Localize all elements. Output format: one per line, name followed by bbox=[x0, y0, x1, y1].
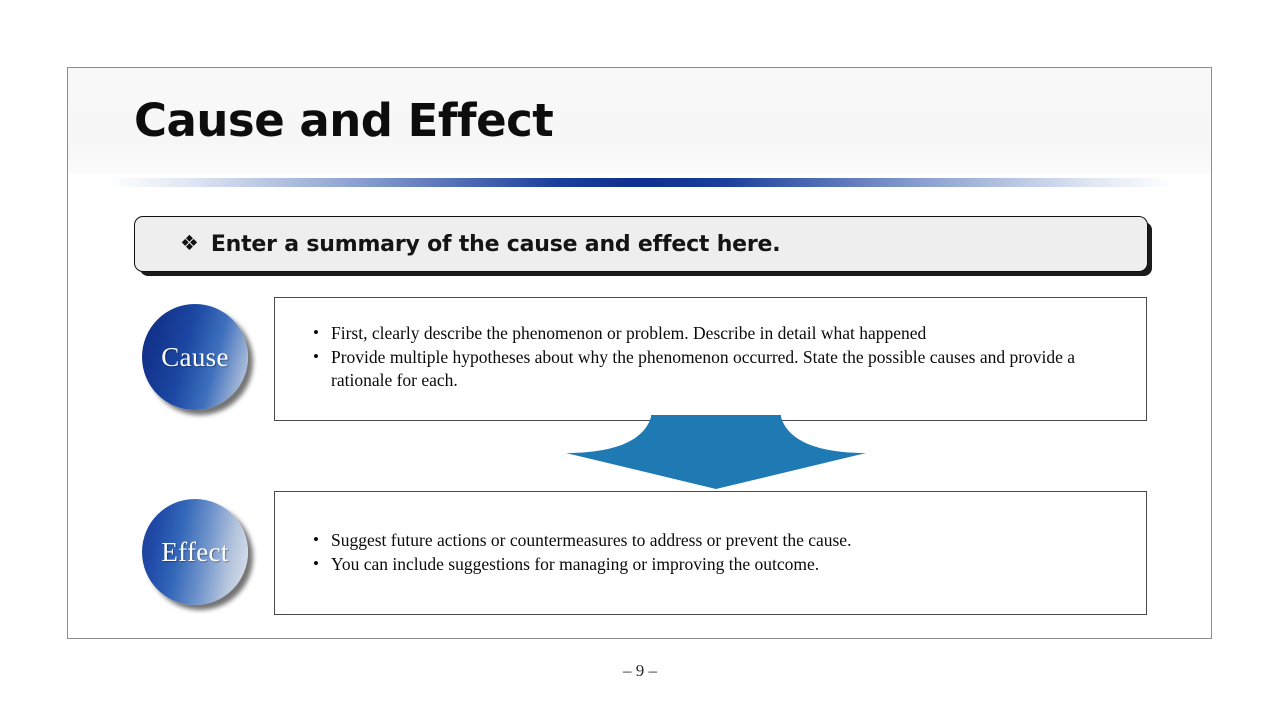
page-number: – 9 – bbox=[0, 661, 1280, 681]
effect-bullet-list: Suggest future actions or countermeasure… bbox=[313, 529, 1126, 576]
slide-header: Cause and Effect bbox=[68, 68, 1211, 174]
cause-bullet-list: First, clearly describe the phenomenon o… bbox=[313, 322, 1126, 393]
summary-content: ❖ Enter a summary of the cause and effec… bbox=[135, 232, 780, 257]
down-arrow-icon bbox=[556, 415, 876, 491]
effect-circle-badge[interactable]: Effect bbox=[142, 499, 248, 605]
gradient-rule bbox=[108, 178, 1173, 187]
list-item: Suggest future actions or countermeasure… bbox=[313, 529, 1126, 553]
list-item: You can include suggestions for managing… bbox=[313, 553, 1126, 577]
summary-callout-box[interactable]: ❖ Enter a summary of the cause and effec… bbox=[134, 216, 1148, 272]
cause-circle-label: Cause bbox=[161, 342, 228, 373]
effect-text-box[interactable]: Suggest future actions or countermeasure… bbox=[274, 491, 1147, 615]
effect-circle-label: Effect bbox=[161, 537, 228, 568]
diamond-bullet-icon: ❖ bbox=[180, 233, 199, 254]
slide-canvas: Cause and Effect ❖ Enter a summary of th… bbox=[67, 67, 1212, 639]
cause-text-box[interactable]: First, clearly describe the phenomenon o… bbox=[274, 297, 1147, 421]
summary-text: Enter a summary of the cause and effect … bbox=[211, 232, 781, 257]
list-item: First, clearly describe the phenomenon o… bbox=[313, 322, 1126, 346]
header-divider bbox=[68, 174, 1211, 190]
list-item: Provide multiple hypotheses about why th… bbox=[313, 346, 1126, 393]
page-title: Cause and Effect bbox=[134, 94, 553, 147]
cause-circle-badge[interactable]: Cause bbox=[142, 304, 248, 410]
